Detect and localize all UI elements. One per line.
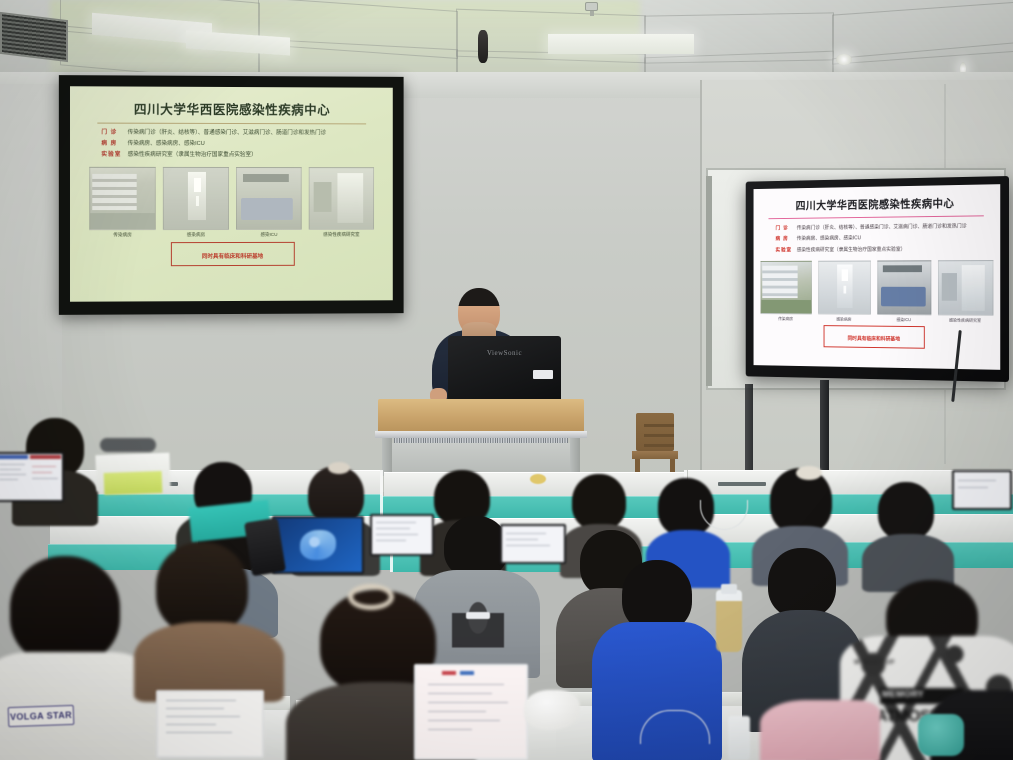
small-cup [530,474,546,484]
tv-photo-image [937,260,992,316]
teal-pouch [918,714,964,756]
tv-slide-body: 门 诊 传染病门诊（肝炎、结核等）、普通感染门诊、艾滋病门诊、肠道门诊和发热门诊… [760,222,994,253]
laptop-lid [500,524,566,564]
green-notebook [104,471,163,495]
tv-photo-image [760,261,811,315]
laptop-screen [954,472,1010,508]
tablet-frame [414,664,528,760]
tablet-screen [416,666,526,758]
doc-text-line [166,724,216,725]
chair-slat [644,434,674,437]
podium [378,399,584,475]
hand-sanitizer-bottle [728,716,750,760]
person-head [572,474,626,530]
hair-claw-clip [348,584,394,610]
tv-slide-line: 门 诊 传染病门诊（肝炎、结核等）、普通感染门诊、艾滋病门诊、肠道门诊和发热门诊 [775,222,993,231]
slide-photo-image [236,167,302,230]
tablet-device[interactable] [414,664,528,760]
dark-bag [100,438,156,452]
slide-line: 病 房 传染病房、感染病房、感染ICU [101,141,384,148]
laptop-lid [0,452,64,502]
doc-text-line [376,522,416,523]
slide-photo-image [163,167,229,230]
person-pink-top [760,700,880,760]
doc-text-line [0,474,26,475]
doc-text-line [32,478,58,479]
doc-text-line [166,708,224,709]
tv-slide-line: 病 房 传染病房、感染病房、感染ICU [775,234,993,243]
doc-text-line [428,702,508,703]
slide-title-rule [97,123,366,125]
slide-photo-cell: 感染病房 [163,167,229,238]
doc-text-line [32,466,56,467]
water-bottle [716,590,742,652]
slide-photo-row: 传染病房 感染病房 感染ICU 感染性疾病研究室 [79,162,384,238]
desk-front-panel [698,514,1013,544]
laptop-device[interactable] [272,516,364,574]
doc-text-line [0,464,25,465]
doc-text-line [166,716,240,717]
hair-clip [328,462,350,474]
chair-slat [644,424,674,427]
tv-screen-surface: 四川大学华西医院感染性疾病中心 门 诊 传染病门诊（肝炎、结核等）、普通感染门诊… [754,184,1001,370]
slide-callout-box: 同时具有临床和科研基地 [170,242,294,266]
slide-body: 门 诊 传染病门诊（肝炎、结核等）、普通感染门诊、艾滋病门诊、肠道门诊和发热门诊… [79,130,384,159]
monitor-body [448,336,561,402]
left-wall [0,84,62,474]
tv-slide-title: 四川大学华西医院感染性疾病中心 [760,188,994,213]
audience-member-foreground [760,700,880,760]
chair-slat [644,444,674,447]
slide-line: 门 诊 传染病门诊（肝炎、结核等）、普通感染门诊、艾滋病门诊、肠道门诊和发热门诊 [101,130,384,137]
doc-text-line [428,729,472,730]
slide-line-label: 实验室 [101,151,127,157]
crumpled-tissue [524,690,580,730]
tv-slide-line-label: 实验室 [775,246,796,253]
laptop-screen [372,516,432,554]
person-head [10,556,120,664]
slide-line-text: 感染性疾病研究室（隶属生物治疗国家重点实验室） [128,151,257,158]
tablet-frame [156,690,264,758]
tv-photo-caption: 感染性疾病研究室 [937,317,992,323]
slide-line-label: 门 诊 [101,130,127,137]
doc-text-line [32,472,52,473]
doc-text-line [0,469,21,470]
tv-photo-cell: 感染ICU [877,260,931,323]
desktop-wallpaper-graphic [300,530,336,560]
laptop-device[interactable] [952,470,1012,510]
tv-photo-cell: 传染病房 [760,261,811,322]
sprinkler-head [585,2,598,11]
slide-line-text: 传染病房、感染病房、感染ICU [128,141,205,148]
doc-window-header [442,671,456,675]
tv-photo-image [818,260,871,314]
tv-slide-line-label: 门 诊 [775,225,796,232]
chair-back [636,413,674,451]
slide-photo-caption: 感染ICU [236,232,302,238]
laptop-lid [272,516,364,574]
slide-photo-image [309,168,374,231]
recessed-downlight [836,54,852,65]
podium-edge [375,431,587,438]
tv-callout-box: 同时具有临床和科研基地 [824,325,925,349]
monitor-brand-label: ViewSonic [448,349,561,357]
laptop-screen [0,454,62,500]
tablet-device[interactable] [156,690,264,758]
tv-photo-cell: 感染病房 [818,260,871,322]
slide-photo-cell: 感染性疾病研究室 [309,168,374,239]
doc-text-line [506,533,546,534]
slide-content: 四川大学华西医院感染性疾病中心 门 诊 传染病门诊（肝炎、结核等）、普通感染门诊… [70,86,393,301]
slide-callout-text: 同时具有临床和科研基地 [202,254,264,260]
doc-text-line [376,540,406,541]
tv-photo-caption: 传染病房 [760,316,811,322]
slide-photo-caption: 传染病房 [89,233,156,239]
doc-text-line [958,480,996,481]
tv-slide-line-text: 传染病房、感染病房、感染ICU [797,235,861,242]
laptop-screen [502,526,564,562]
doc-text-line [506,539,538,540]
doc-text-line [958,487,988,488]
tv-photo-image [877,260,931,315]
doc-text-line [376,534,418,535]
laptop-lid [952,470,1012,510]
person-head [768,548,836,618]
tv-photo-cell: 感染性疾病研究室 [937,260,992,324]
audience-member [862,482,954,582]
slide-photo-cell: 感染ICU [236,167,302,238]
projection-screen: 四川大学华西医院感染性疾病中心 门 诊 传染病门诊（肝炎、结核等）、普通感染门诊… [59,75,404,315]
tv-slide-line-text: 感染性疾病研究室（隶属生物治疗国家重点实验室） [797,245,906,252]
bottle-cap [721,584,737,594]
shirt-secondary-text: WORLD CUP [854,660,895,666]
laptop-device[interactable] [500,524,566,564]
podium-top-surface [378,399,584,433]
tv-slide-title-rule [768,215,983,219]
lecture-hall-photo: 四川大学华西医院感染性疾病中心 门 诊 传染病门诊（肝炎、结核等）、普通感染门诊… [0,0,1013,760]
doc-text-line [376,528,410,529]
tv-slide-line-text: 传染病门诊（肝炎、结核等）、普通感染门诊、艾滋病门诊、肠道门诊和发热门诊 [797,223,967,232]
tv-photo-row: 传染病房 感染病房 感染ICU 感染性疾病研究室 [760,256,994,324]
doc-text-line [166,732,232,733]
slide-line-label: 病 房 [101,141,127,148]
hair-scrunchie [796,466,822,480]
shirt-subtext: MEMORY [882,689,924,699]
tote-bag-label: VOLGA STAR [8,705,75,727]
doc-text-line [166,700,236,701]
slide-photo-image [89,167,156,230]
tv-photo-caption: 感染ICU [877,317,931,323]
wall-seam [700,80,702,480]
slide-line: 实验室 感染性疾病研究室（隶属生物治疗国家重点实验室） [101,151,384,158]
doc-text-line [428,693,492,694]
tv-stand-post [745,384,753,480]
tv-photo-caption: 感染病房 [818,316,871,322]
doc-text-line [0,479,18,480]
slide-photo-cell: 传染病房 [89,167,156,238]
wall-mounted-tv[interactable]: 四川大学华西医院感染性疾病中心 门 诊 传染病门诊（肝炎、结核等）、普通感染门诊… [746,176,1009,382]
doc-text-line [506,545,550,546]
air-conditioning-vent [0,12,68,62]
slide-photo-caption: 感染病房 [163,232,229,238]
laptop-lid [370,514,434,556]
doc-text-line [428,720,500,721]
ceiling-sensor [478,30,488,63]
tv-slide-line: 实验室 感染性疾病研究室（隶属生物治疗国家重点实验室） [775,245,993,253]
tablet-screen [158,692,262,756]
doc-window-header [0,455,28,459]
laptop-device[interactable] [370,514,434,556]
doc-window-header [30,455,61,459]
slide-photo-caption: 感染性疾病研究室 [309,232,374,238]
tv-slide-content: 四川大学华西医院感染性疾病中心 门 诊 传染病门诊（肝炎、结核等）、普通感染门诊… [754,184,1001,370]
slide-title: 四川大学华西医院感染性疾病中心 [79,92,384,118]
whiteboard-rail [706,176,712,386]
doc-window-header [460,671,474,675]
tv-slide-line-label: 病 房 [775,236,796,243]
slide-line-text: 传染病门诊（肝炎、结核等）、普通感染门诊、艾滋病门诊、肠道门诊和发热门诊 [128,130,327,137]
person-head [156,542,248,634]
monitor-sticker [533,370,553,379]
person-head [878,482,934,540]
doc-text-line [428,684,504,685]
ceiling-light-panel [548,34,694,54]
laptop-device[interactable] [0,452,64,502]
laptop-screen [274,518,362,572]
person-head [444,516,508,578]
podium-monitor: ViewSonic [448,336,561,402]
chair-seat [632,451,678,459]
tv-callout-text: 同时具有临床和科研基地 [848,336,901,343]
doc-text-line [428,711,486,712]
projection-screen-surface: 四川大学华西医院感染性疾病中心 门 诊 传染病门诊（肝炎、结核等）、普通感染门诊… [70,86,393,301]
tote-bag-label-text: VOLGA STAR [10,710,72,722]
